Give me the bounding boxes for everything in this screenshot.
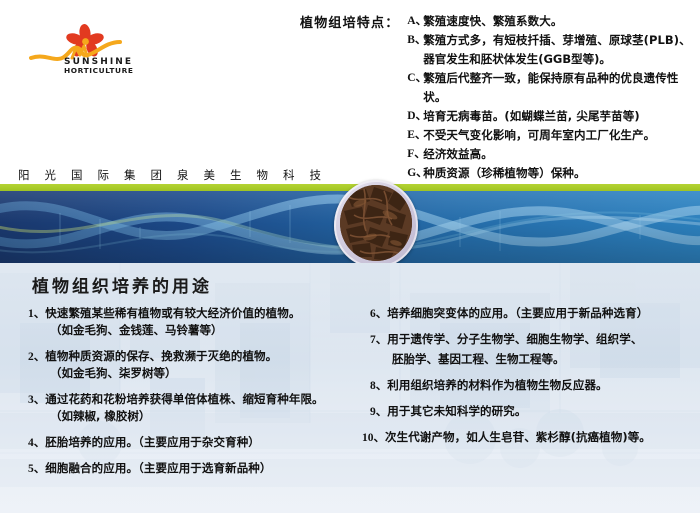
list-item: 4、 胚胎培养的应用。（主要应用于杂交育种） <box>28 434 368 451</box>
sunshine-horticulture-logo: SUNSHINE HORTICULTURE <box>28 22 146 78</box>
list-item-sub: （如金毛狗、金钱莲、马铃薯等） <box>50 322 368 339</box>
list-item: 7、 用于遗传学、分子生物学、细胞生物学、组织学、 <box>370 331 700 348</box>
list-item: 9、 用于其它未知科学的研究。 <box>370 403 700 420</box>
feature-item: F、 经济效益高。 <box>407 145 698 164</box>
feature-item: A、 繁殖速度快、繁殖系数大。 <box>407 12 698 31</box>
page-title: 植物组织培养的用途 <box>32 272 212 297</box>
uses-right-column: 6、 培养细胞突变体的应用。（主要应用于新品种选育） 7、 用于遗传学、分子生物… <box>370 305 700 455</box>
company-name-line: 阳光国际集团泉美生物科技 <box>18 167 336 183</box>
list-item: 3、 通过花药和花粉培养获得单倍体植株、缩短育种年限。 <box>28 391 368 408</box>
feature-item-continuation: 器官发生和胚状体发生(GGB型等)。 <box>423 50 698 69</box>
list-item: 8、 利用组织培养的材料作为植物生物反应器。 <box>370 377 700 394</box>
list-item: 5、 细胞融合的应用。（主要应用于选育新品种） <box>28 460 368 477</box>
list-item: 10、 次生代谢产物，如人生皂苷、紫杉醇(抗癌植物)等。 <box>362 429 700 446</box>
list-item: 2、 植物种质资源的保存、挽救濒于灭绝的植物。 <box>28 348 368 365</box>
features-block: 植物组培特点： A、 繁殖速度快、繁殖系数大。 B、 繁殖方式多，有短枝扦插、芽… <box>300 12 698 202</box>
list-item: 1、 快速繁殖某些稀有植物或有较大经济价值的植物。 <box>28 305 368 322</box>
feature-item: E、 不受天气变化影响，可周年室内工厂化生产。 <box>407 126 698 145</box>
list-item-sub: （如辣椒, 橡胶树） <box>50 408 368 425</box>
tissue-culture-jar-image <box>334 180 418 268</box>
features-title: 植物组培特点： <box>300 12 398 33</box>
list-item-sub: （如金毛狗、柒罗树等） <box>50 365 368 382</box>
top-section: SUNSHINE HORTICULTURE 植物组培特点： A、 繁殖速度快、繁… <box>0 0 700 184</box>
logo-name-line1: SUNSHINE <box>64 58 134 66</box>
features-header-row: 植物组培特点： A、 繁殖速度快、繁殖系数大。 B、 繁殖方式多，有短枝扦插、芽… <box>300 12 698 202</box>
poster-page: SUNSHINE HORTICULTURE 植物组培特点： A、 繁殖速度快、繁… <box>0 0 700 513</box>
feature-item: B、 繁殖方式多，有短枝扦插、芽增殖、原球茎(PLB)、 <box>407 31 698 50</box>
feature-item: C、 繁殖后代整齐一致，能保持原有品种的优良遗传性状。 <box>407 69 698 107</box>
jar-rim <box>334 180 418 268</box>
logo-name-line2: HORTICULTURE <box>64 67 134 75</box>
feature-item: G、 种质资源（珍稀植物等）保种。 <box>407 164 698 183</box>
uses-left-column: 1、 快速繁殖某些稀有植物或有较大经济价值的植物。 （如金毛狗、金钱莲、马铃薯等… <box>28 305 368 486</box>
feature-item: D、 培育无病毒苗。(如蝴蝶兰苗, 尖尾芋苗等) <box>407 107 698 126</box>
features-items: A、 繁殖速度快、繁殖系数大。 B、 繁殖方式多，有短枝扦插、芽增殖、原球茎(P… <box>407 12 698 202</box>
list-item-continuation: 胚胎学、基因工程、生物工程等。 <box>392 351 700 368</box>
list-item: 6、 培养细胞突变体的应用。（主要应用于新品种选育） <box>370 305 700 322</box>
